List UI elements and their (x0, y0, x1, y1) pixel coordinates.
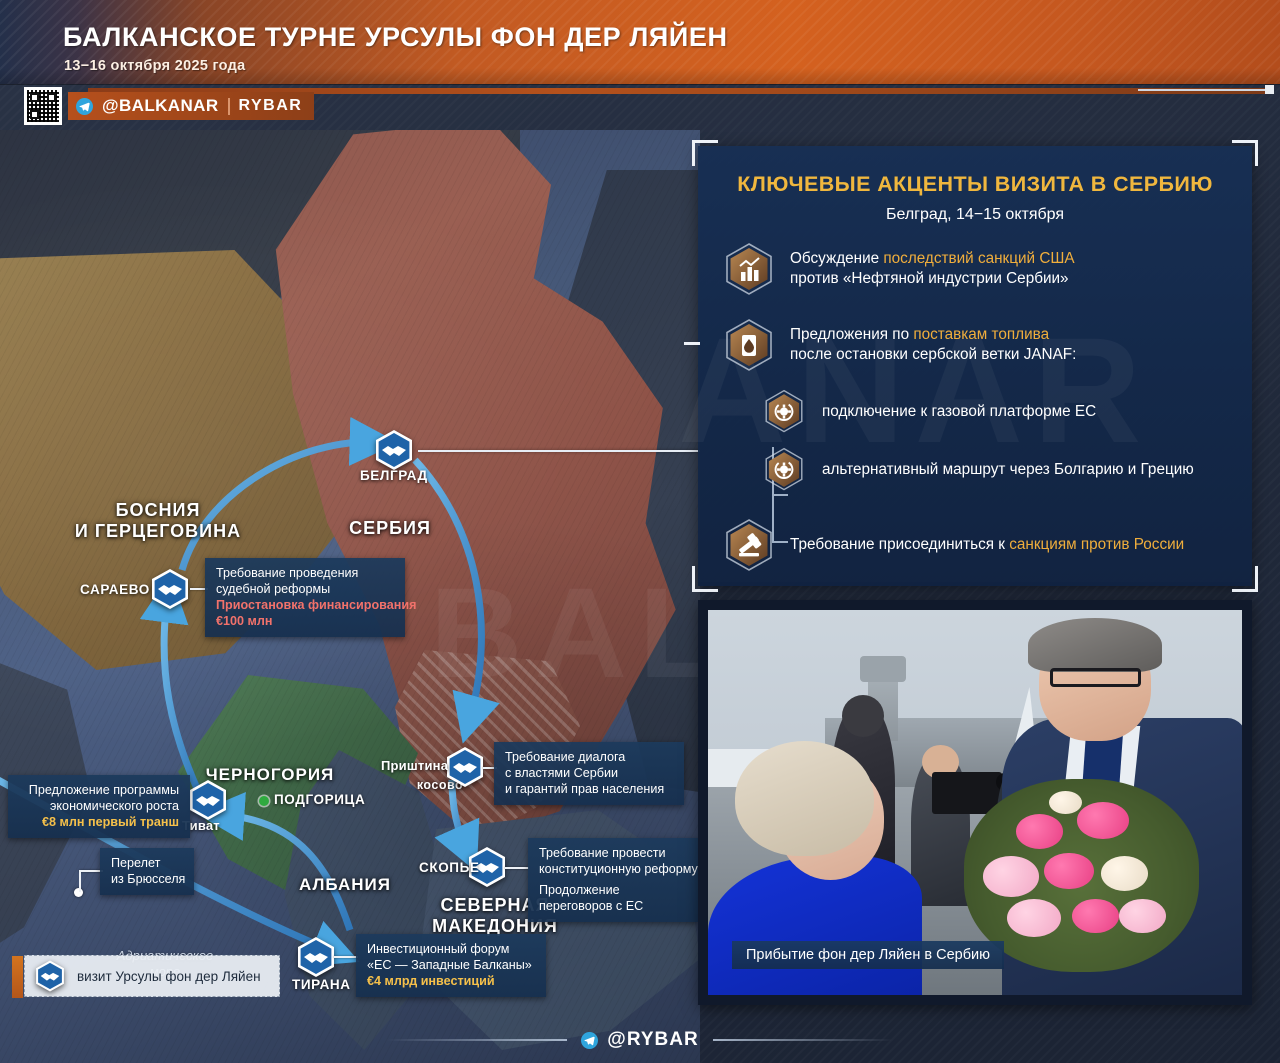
brand-bar: @BALKANAR RYBAR (68, 92, 314, 120)
callout-flight: Перелет из Брюсселя (100, 848, 194, 895)
belgrade-panel-connector (418, 450, 700, 452)
panel-subitem-alt-route: альтернативный маршрут через Болгарию и … (760, 446, 1236, 494)
marker-belgrade[interactable] (372, 428, 416, 472)
gear-cycle-icon (760, 388, 808, 436)
marker-skopje[interactable] (465, 845, 509, 889)
callout-skopje: Требование провести конституционную рефо… (528, 838, 698, 922)
callout-sarajevo: Требование проведения судебной реформы П… (205, 558, 405, 637)
legend-label: визит Урсулы фон дер Ляйен (77, 969, 261, 984)
panel-item-fuel: Предложения по поставкам топлива после о… (722, 318, 1236, 372)
photo-image: Прибытие фон дер Ляйен в Сербию (708, 610, 1242, 995)
telegram-icon (76, 98, 93, 115)
header-rule-dot (1265, 85, 1274, 94)
infographic-page: БАЛКАНСКОЕ ТУРНЕ УРСУЛЫ ФОН ДЕР ЛЯЙЕН 13… (0, 0, 1280, 1063)
brand-name: RYBAR (239, 97, 303, 115)
panel-subtitle: Белград, 14−15 октября (698, 206, 1252, 224)
panel-branch-tick-1 (772, 494, 788, 496)
footer-brand-label: @RYBAR (607, 1029, 698, 1051)
map-legend: визит Урсулы фон дер Ляйен (24, 955, 280, 997)
footer-bar: @RYBAR (0, 1017, 1280, 1063)
photo-card: Прибытие фон дер Ляйен в Сербию (698, 600, 1252, 1005)
panel-item-list: Обсуждение последствий санкций США проти… (722, 242, 1236, 580)
leader-flight-v (79, 870, 81, 892)
marker-sarajevo[interactable] (148, 567, 192, 611)
panel-item-russia-sanctions: Требование присоединиться к санкциям про… (722, 518, 1236, 572)
page-title: БАЛКАНСКОЕ ТУРНЕ УРСУЛЫ ФОН ДЕР ЛЯЙЕН (63, 22, 728, 53)
panel-item-text: альтернативный маршрут через Болгарию и … (822, 460, 1194, 480)
header-bar: БАЛКАНСКОЕ ТУРНЕ УРСУЛЫ ФОН ДЕР ЛЯЙЕН 13… (0, 0, 1280, 84)
channel-name: @BALKANAR (102, 96, 219, 116)
handshake-hex-icon (33, 959, 67, 993)
callout-tirana: Инвестиционный форум «ЕС — Западные Балк… (356, 934, 546, 997)
chart-bars-icon (722, 242, 776, 296)
photo-vonderleyen-hair (735, 741, 874, 857)
footer-line-left (387, 1039, 567, 1041)
oil-drop-icon (722, 318, 776, 372)
page-subtitle: 13−16 октября 2025 года (64, 58, 246, 74)
gavel-icon (722, 518, 776, 572)
leader-tirana (334, 956, 358, 958)
callout-tivat: Предложение программы экономического рос… (8, 775, 190, 838)
capital-dot-podgorica (259, 796, 269, 806)
telegram-icon (581, 1032, 598, 1049)
panel-item-text: подключение к газовой платформе ЕС (822, 402, 1096, 422)
marker-tirana[interactable] (294, 935, 338, 979)
marker-tivat[interactable] (186, 778, 230, 822)
panel-item-text: Предложения по поставкам топлива после о… (790, 325, 1076, 366)
legend-accent-bar (12, 956, 23, 998)
photo-vucic-glasses (1050, 668, 1141, 687)
panel-item-sanctions: Обсуждение последствий санкций США проти… (722, 242, 1236, 296)
footer-line-right (713, 1039, 893, 1041)
header-rule-line (1138, 89, 1268, 91)
photo-vucic-hair (1028, 618, 1162, 672)
gear-cycle-icon (760, 446, 808, 494)
qr-code-icon (24, 87, 62, 125)
leader-skopje (505, 867, 529, 869)
panel-corner-top-right (1232, 140, 1258, 166)
panel-item-text: Требование присоединиться к санкциям про… (790, 535, 1184, 555)
photo-bystander-1-head (842, 695, 885, 737)
key-points-panel: ANAR КЛЮЧЕВЫЕ АКЦЕНТЫ ВИЗИТА В СЕРБИЮ Бе… (698, 146, 1252, 586)
footer-brand[interactable]: @RYBAR (581, 1029, 698, 1051)
panel-title: КЛЮЧЕВЫЕ АКЦЕНТЫ ВИЗИТА В СЕРБИЮ (698, 172, 1252, 197)
panel-subitem-gas-platform: подключение к газовой платформе ЕС (760, 388, 1236, 436)
photo-caption: Прибытие фон дер Ляйен в Сербию (732, 941, 1004, 969)
panel-side-tick (684, 342, 700, 345)
balkans-map: BALKANAR БОСНИЯИ Г (0, 130, 700, 1063)
callout-pristina: Требование диалога с властями Сербии и г… (494, 742, 684, 805)
panel-item-text: Обсуждение последствий санкций США проти… (790, 249, 1075, 290)
brand-separator (228, 98, 230, 115)
marker-pristina[interactable] (443, 745, 487, 789)
